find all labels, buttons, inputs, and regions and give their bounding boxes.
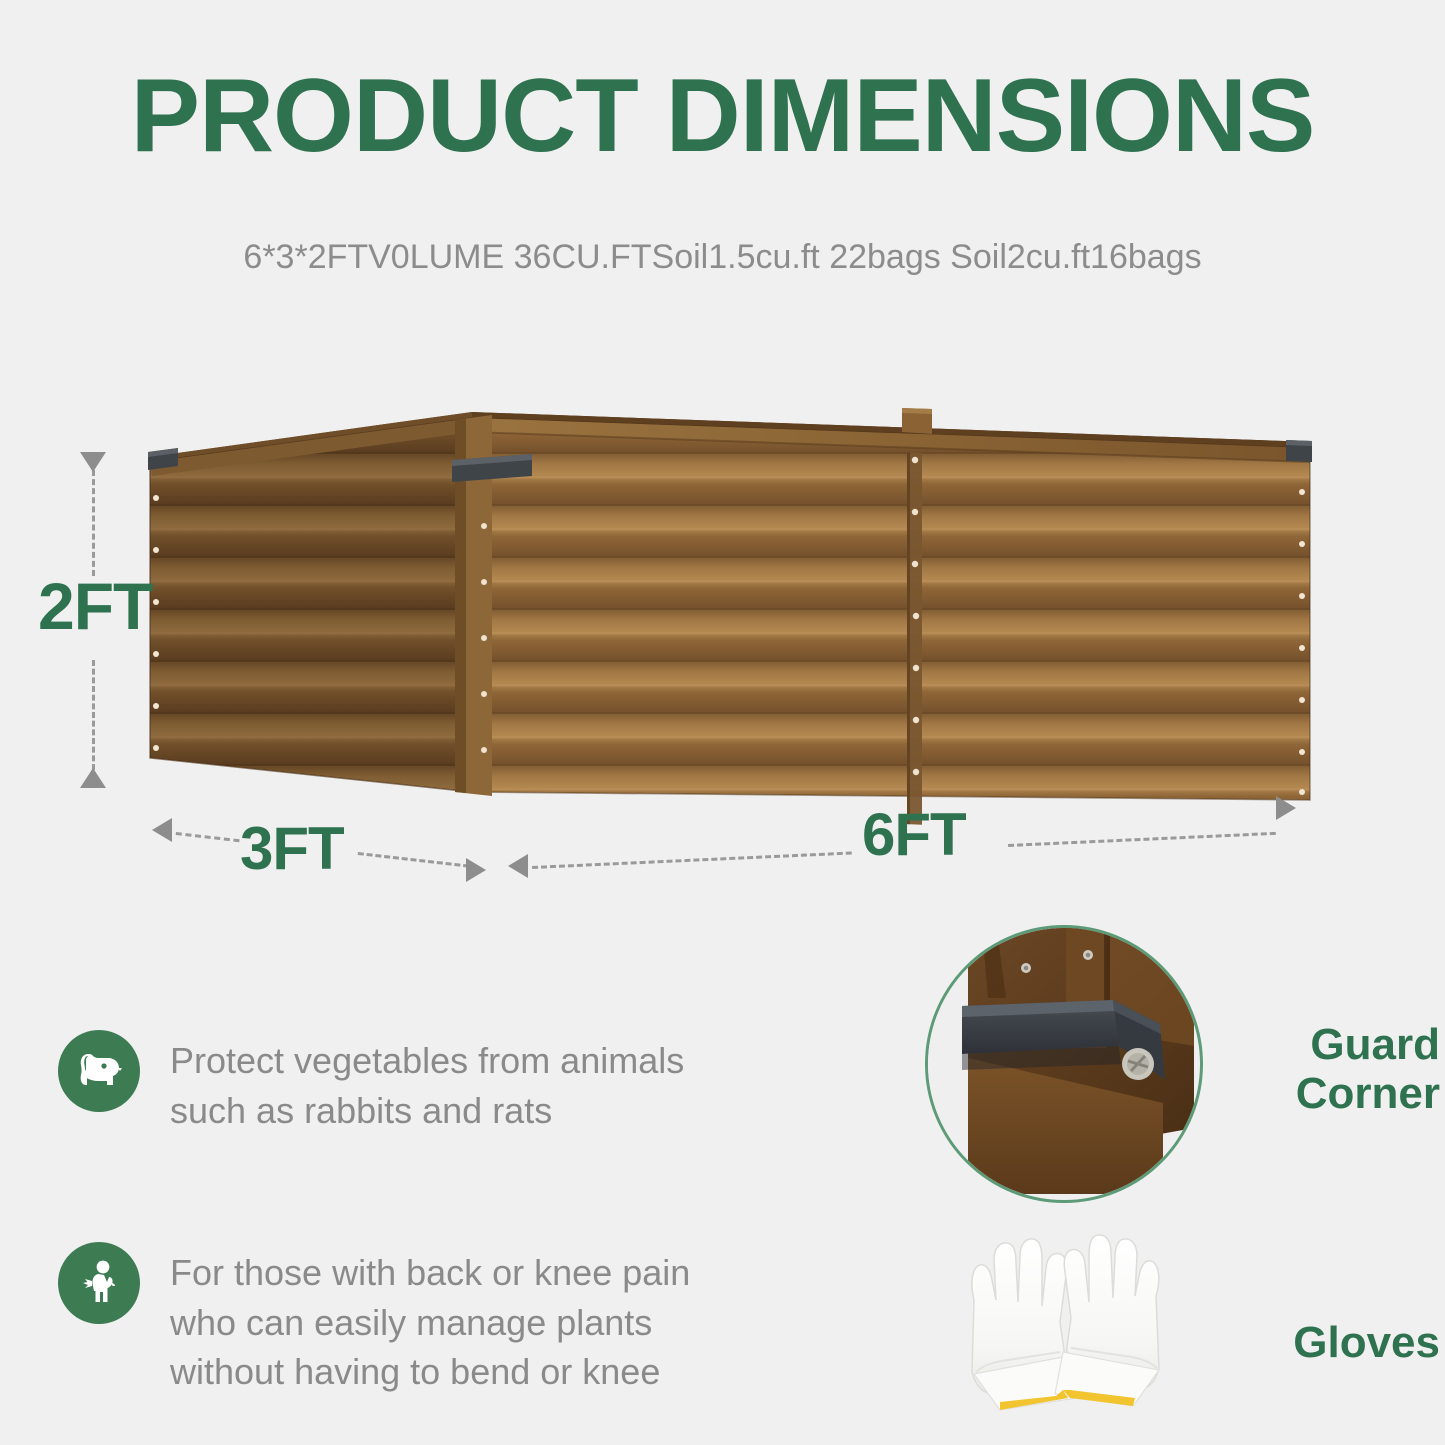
feature-item-back-knee-pain: For those with back or knee pain who can… [58, 1242, 750, 1397]
dimension-arrow-width-right [1276, 796, 1296, 820]
front-center-seam [907, 452, 922, 825]
dimension-line-height-bottom [92, 660, 95, 770]
page-title: PRODUCT DIMENSIONS [0, 62, 1445, 171]
guard-corner-label-line1: Guard [1140, 1020, 1440, 1069]
gloves-label: Gloves [1140, 1318, 1440, 1367]
feature-item-animal-protection: Protect vegetables from animals such as … [58, 1030, 750, 1135]
feature-text: Protect vegetables from animals such as … [170, 1030, 750, 1135]
feature-text: For those with back or knee pain who can… [170, 1242, 750, 1397]
guard-corner-cap-right [1286, 440, 1312, 462]
dimension-label-width: 6FT [862, 800, 966, 869]
infographic-canvas: PRODUCT DIMENSIONS 6*3*2FTV0LUME 36CU.FT… [0, 0, 1445, 1445]
dog-icon [58, 1030, 140, 1112]
subtitle-specs: 6*3*2FTV0LUME 36CU.FTSoil1.5cu.ft 22bags… [0, 238, 1445, 277]
dimension-label-depth: 3FT [240, 814, 344, 883]
guard-corner-label-line2: Corner [1140, 1069, 1440, 1118]
dimension-arrow-width-left [508, 854, 528, 878]
raised-garden-bed-illustration [120, 400, 1340, 860]
guard-corner-label: Guard Corner [1140, 1020, 1440, 1119]
box-front-face [472, 418, 1310, 800]
dimension-arrow-depth-right [466, 858, 486, 882]
dimension-arrow-height-top [80, 452, 106, 472]
dimension-label-height: 2FT [38, 568, 152, 644]
dimension-arrow-depth-left [152, 818, 172, 842]
dimension-arrow-height-bottom [80, 768, 106, 788]
back-pain-person-icon [58, 1242, 140, 1324]
gloves-label-line1: Gloves [1140, 1318, 1440, 1367]
dimension-line-height-top [92, 470, 95, 576]
box-side-face [150, 418, 472, 792]
top-support-bracket [902, 408, 932, 434]
